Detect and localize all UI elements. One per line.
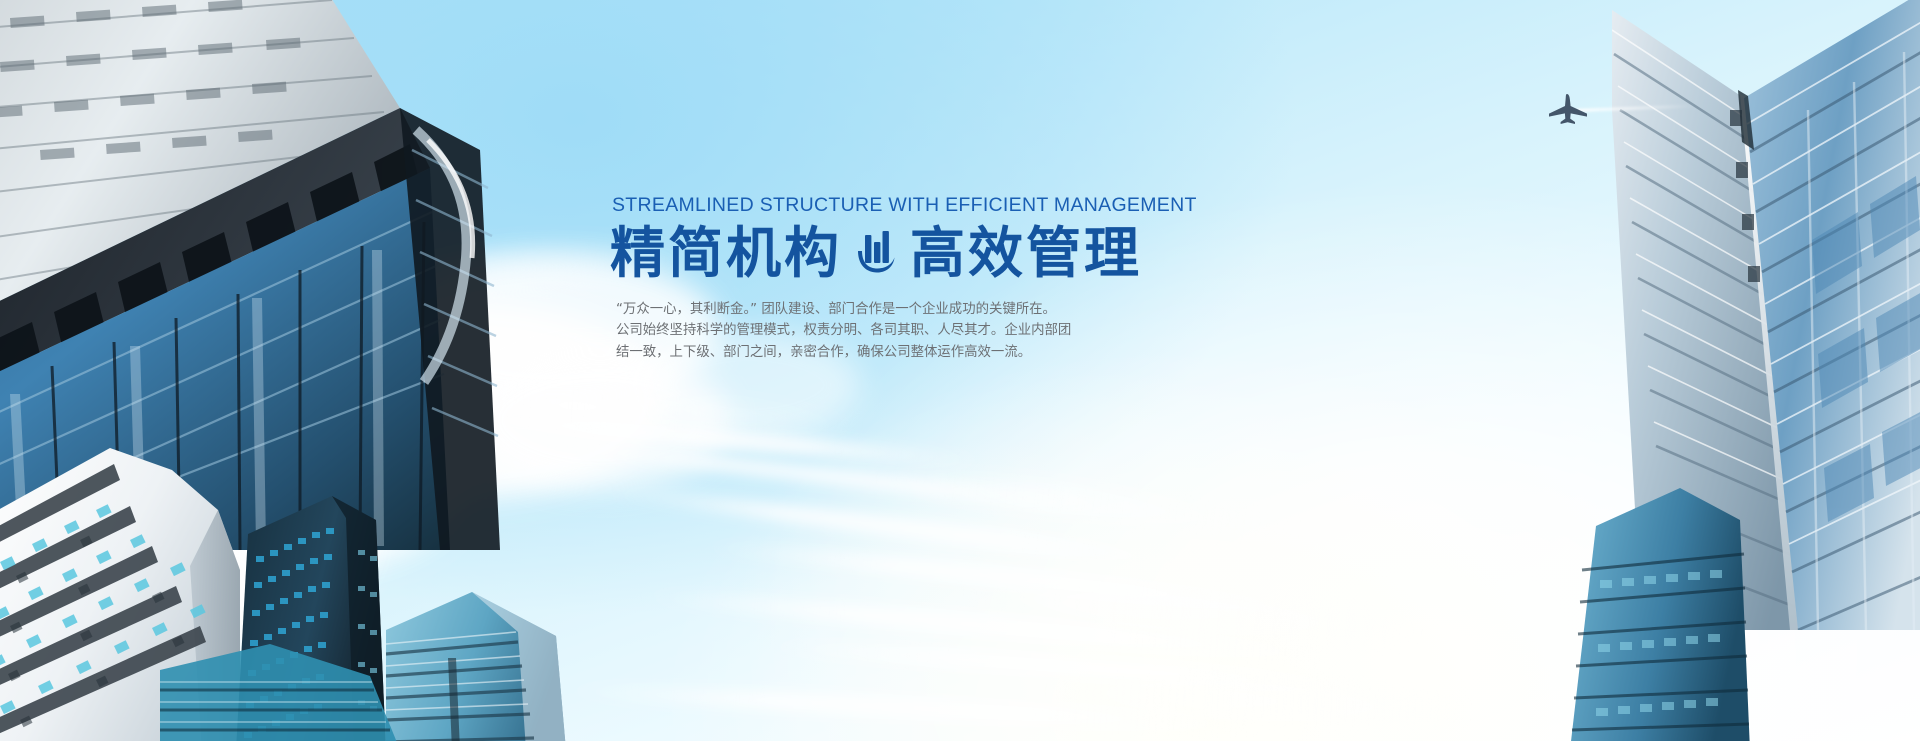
airplane-icon <box>1546 92 1592 126</box>
description-line-2: 公司始终坚持科学的管理模式，权责分明、各司其职、人尽其才。企业内部团 <box>616 320 1310 342</box>
bottom-teal-office-block <box>160 640 420 741</box>
description-line-1: “万众一心，其利断金。” 团队建设、部门合作是一个企业成功的关键所在。 <box>616 299 1310 321</box>
headline-left: 精简机构 <box>610 224 842 283</box>
right-lower-glass-slab <box>1560 480 1760 741</box>
headline-right: 高效管理 <box>910 224 1142 283</box>
hero-description: “万众一心，其利断金。” 团队建设、部门合作是一个企业成功的关键所在。 公司始终… <box>610 299 1310 364</box>
hero-copy: STREAMLINED STRUCTURE WITH EFFICIENT MAN… <box>610 196 1310 363</box>
building-bars-logo-icon <box>856 229 896 277</box>
eyebrow-text: STREAMLINED STRUCTURE WITH EFFICIENT MAN… <box>610 196 1310 216</box>
hero-banner: STREAMLINED STRUCTURE WITH EFFICIENT MAN… <box>0 0 1920 741</box>
page-title: 精简机构 高效管理 <box>610 224 1310 283</box>
description-line-3: 结一致，上下级、部门之间，亲密合作，确保公司整体运作高效一流。 <box>616 342 1310 364</box>
